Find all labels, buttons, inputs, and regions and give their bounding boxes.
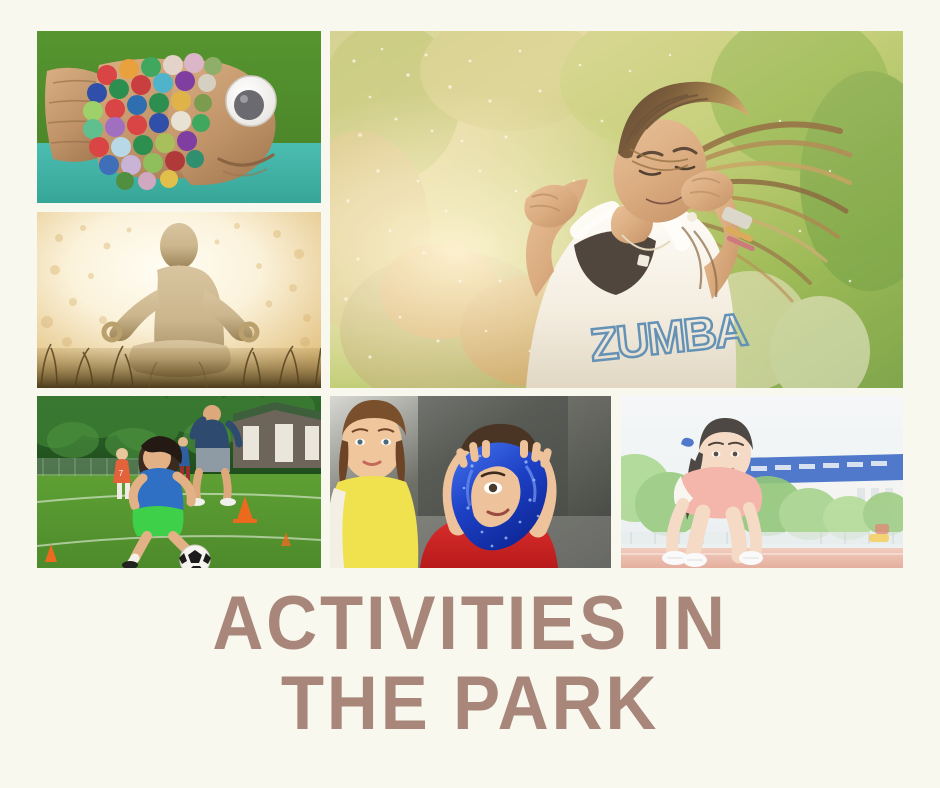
photo-panel-kids-slime-play xyxy=(330,396,611,568)
photo-panel-clay-fish-craft xyxy=(37,31,321,203)
slime-play-illustration xyxy=(330,396,611,568)
title-line-2: THE PARK xyxy=(33,668,907,740)
clay-fish-illustration xyxy=(37,31,321,203)
kids-soccer-illustration: 7 xyxy=(37,396,321,568)
girl-sprint-start-illustration xyxy=(621,396,903,568)
page-title: ACTIVITIES IN THE PARK xyxy=(0,588,940,740)
meditation-silhouette-illustration xyxy=(37,212,321,388)
photo-panel-meditation-yoga xyxy=(37,212,321,388)
dancing-woman-illustration: ZUMBA xyxy=(330,31,903,388)
photo-panel-kids-soccer: 7 xyxy=(37,396,321,568)
svg-text:7: 7 xyxy=(119,469,124,478)
photo-panel-girl-running-track xyxy=(621,396,903,568)
photo-panel-zumba-dance: ZUMBA xyxy=(330,31,903,388)
title-line-1: ACTIVITIES IN xyxy=(33,588,907,660)
